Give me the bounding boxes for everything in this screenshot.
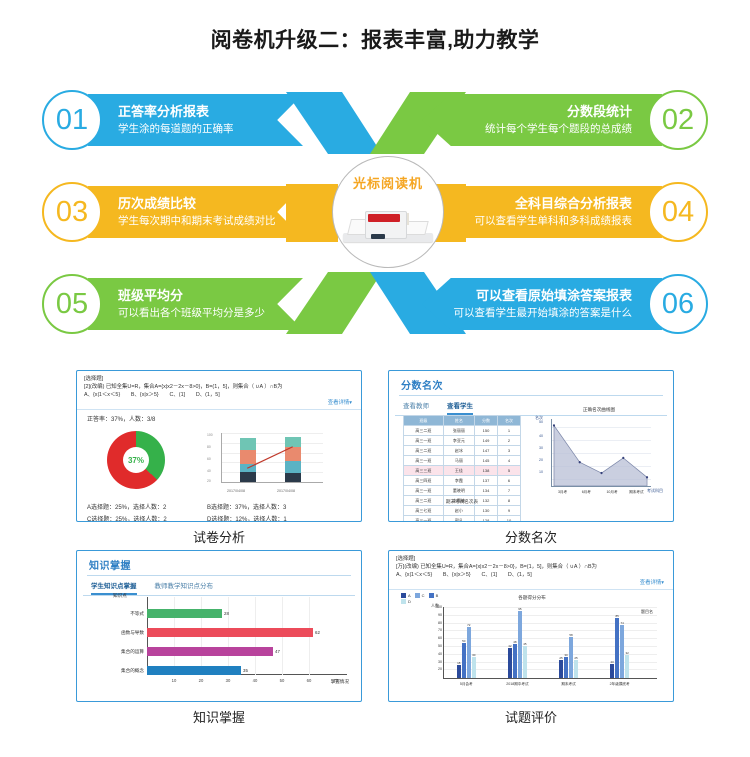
bar-label: 函数与导数 [121, 628, 144, 637]
y-tick: 10 [539, 470, 543, 474]
panel-question-eval: [选择题] [万](改编) 已知全集U=R，集合A={x|x2－2x－8>0}，… [388, 550, 674, 702]
table-row: 高三二班张丽丽1501 [404, 426, 521, 436]
correct-rate-text: 正答率：37%，人数：3/8 [77, 410, 361, 423]
question-block: [选择题] [万](改编) 已知全集U=R，集合A={x|x2－2x－8>0}，… [389, 551, 673, 590]
view-detail-link[interactable]: 查看详情▾ [84, 399, 354, 407]
ocr-scanner-machine-icon [341, 205, 435, 249]
feature-number-label: 02 [662, 104, 694, 137]
x-tick-1: 2017/04/08 [227, 489, 245, 493]
bar-label: 集合的概念 [121, 666, 144, 675]
y-tick: 20 [539, 458, 543, 462]
bar-group: 42 48 95 45 2018期中考试 [508, 607, 527, 678]
x-tick: 10月考 [606, 490, 617, 495]
screenshot-panels: [选择题] [2](改编) 已知全集U=R，集合A={x|x2－2x－8>0}，… [0, 362, 750, 742]
x-tick: 6月考 [582, 490, 591, 495]
x-tick: 50 [280, 678, 285, 683]
y-tick: 80 [432, 621, 442, 625]
stacked-plot-area [221, 433, 323, 483]
question-tag: [选择题] [84, 376, 354, 383]
bar-group: 20 85 74 32 2年级摸底考 [610, 607, 629, 678]
feature-subtitle: 学生涂的每道题的正确率 [118, 122, 287, 136]
y-tick: 40 [539, 434, 543, 438]
question-tag: [选择题] [396, 556, 666, 563]
table-row: 高三一班马丽1454 [404, 456, 521, 466]
y-tick: 20 [432, 667, 442, 671]
correct-rate-donut-chart: 37% [107, 431, 165, 489]
feature-number-05: 05 [42, 274, 102, 334]
feature-title: 全科目综合分析报表 [444, 196, 632, 212]
table-row: 高三二班赵冰1473 [404, 446, 521, 456]
feature-number-label: 03 [56, 196, 88, 229]
table-row: 高三一班董晓明1347 [404, 486, 521, 496]
x-tick: 期末考试 [629, 490, 643, 495]
x-tick: 3月考 [558, 490, 567, 495]
caption-paper-analysis: 试卷分析 [76, 527, 362, 546]
bar-value: 28 [224, 609, 229, 618]
infographic-page: 阅卷机升级二：报表丰富,助力教学 01 正答率分析报表 学生涂的每道题的正确率 … [0, 0, 750, 757]
bar-row: 集合的运算 47 [147, 647, 273, 656]
chart-xlabel: 考试科目 [647, 488, 663, 493]
bar-row: 函数与导数 62 [147, 628, 313, 637]
table-row: 高三四班李霞1376 [404, 476, 521, 486]
x-tick-2: 2017/04/08 [277, 489, 295, 493]
y-tick: 60 [432, 636, 442, 640]
col-class: 班级 [404, 416, 444, 426]
feature-number-label: 05 [56, 288, 88, 321]
center-label: 光标阅读机 [333, 173, 443, 192]
bar-row: 不等式 28 [147, 609, 222, 618]
question-line-1: [2](改编) 已知全集U=R，集合A={x|x2－2x－8>0}，B=(1，5… [84, 383, 354, 391]
x-tick: 30 [226, 678, 231, 683]
feature-number-label: 06 [662, 288, 694, 321]
feature-title: 正答率分析报表 [118, 104, 287, 120]
option-stat-a: A选择题：25%，选择人数：2 [87, 503, 207, 513]
score-table-wrap: 班级 姓名 分数 名次 高三二班张丽丽1501 高三一班李亚元1492 高三二班… [403, 415, 521, 522]
y-tick: 70 [432, 628, 442, 632]
feature-number-06: 06 [648, 274, 708, 334]
question-line-2: A、{x|1＜x＜5} B、{x|x＞5} C、(1] D、(1，5] [84, 391, 354, 399]
caption-knowledge: 知识掌握 [76, 707, 362, 726]
table-row: 高三一班李亚元1492 [404, 436, 521, 446]
score-table-caption: 期末考试名次表 [403, 499, 521, 505]
question-line-1: [万](改编) 已知全集U=R，集合A={x|x2－2x－8>0}，B=(1，5… [396, 563, 666, 571]
chart-ylabel: 知识点 [113, 593, 127, 599]
y-tick: 40 [432, 652, 442, 656]
x-tick: 20 [199, 678, 204, 683]
tab-view-teacher[interactable]: 查看教师 [403, 400, 429, 415]
feature-number-03: 03 [42, 182, 102, 242]
y-tick: 100 [432, 605, 442, 609]
bar-value: 35 [243, 666, 248, 675]
x-tick: 40 [253, 678, 258, 683]
table-header-row: 班级 姓名 分数 名次 [404, 416, 521, 426]
table-row-highlighted: 高三三班王佳1385 [404, 466, 521, 476]
bar-row: 集合的概念 35 [147, 666, 241, 675]
analysis-charts: 37% [77, 423, 361, 501]
caption-question-eval: 试题评价 [388, 707, 674, 726]
bar-group: 25 30 58 25 期末考试 [559, 607, 578, 678]
y-tick: 50 [432, 644, 442, 648]
feature-banner-02[interactable]: 分数段统计 统计每个学生每个题段的总成绩 [422, 94, 662, 146]
feature-number-01: 01 [42, 90, 102, 150]
feature-number-02: 02 [648, 90, 708, 150]
plot-area: 50 40 30 20 10 3月考 6月考 10月考 期末考试 [551, 419, 651, 487]
center-circle: 光标阅读机 [332, 156, 444, 268]
tab-view-student[interactable]: 查看学生 [447, 400, 473, 415]
feature-title: 班级平均分 [118, 288, 287, 304]
question-eval-bar-chart: A C B D 各题得分分布 人数 题目名 [397, 593, 667, 693]
donut-center-label: 37% [123, 447, 149, 473]
plot-area: 100 90 80 70 60 50 40 30 20 18 50 72 30 … [443, 607, 657, 679]
feature-banner-05[interactable]: 班级平均分 可以看出各个班级平均分是多少 [88, 278, 303, 330]
bar-value: 62 [315, 628, 320, 637]
stacked-bar-chart: 100 80 60 40 20 2017/04/08 2017/04/08 [207, 431, 327, 493]
bar-label: 集合的运算 [121, 647, 144, 656]
feature-banner-01[interactable]: 正答率分析报表 学生涂的每道题的正确率 [88, 94, 303, 146]
col-name: 姓名 [443, 416, 474, 426]
table-row: 高三一班郭凡12810 [404, 516, 521, 523]
chart-xlabel: 掌握情况 [331, 679, 349, 685]
y-tick: 90 [432, 613, 442, 617]
bar-value: 47 [275, 647, 280, 656]
col-score: 分数 [475, 416, 498, 426]
feature-subtitle: 可以查看学生单科和多科成绩报表 [444, 214, 632, 228]
feature-subtitle: 可以看出各个班级平均分是多少 [118, 306, 287, 320]
x-tick: 60 [307, 678, 312, 683]
x-tick: 2018期中考试 [506, 682, 528, 687]
feature-banner-04[interactable]: 全科目综合分析报表 可以查看学生单科和多科成绩报表 [422, 186, 662, 238]
option-stat-b: B选择题：37%，选择人数：3 [207, 503, 327, 513]
page-title: 阅卷机升级二：报表丰富,助力教学 [0, 24, 750, 54]
y-tick: 30 [539, 446, 543, 450]
x-tick: 2年级摸底考 [610, 682, 630, 687]
feature-number-label: 01 [56, 104, 88, 137]
score-table: 班级 姓名 分数 名次 高三二班张丽丽1501 高三一班李亚元1492 高三二班… [403, 415, 521, 522]
panel-header-knowledge: 知识掌握 [77, 551, 361, 575]
feature-subtitle: 学生每次期中和期末考试成绩对比 [118, 214, 287, 228]
col-rank: 名次 [497, 416, 520, 426]
question-block: [选择题] [2](改编) 已知全集U=R，集合A={x|x2－2x－8>0}，… [77, 371, 361, 410]
x-tick: 期末考试 [561, 682, 575, 687]
feature-banner-06[interactable]: 可以查看原始填涂答案报表 可以查看学生最开始填涂的答案是什么 [422, 278, 662, 330]
feature-subtitle: 可以查看学生最开始填涂的答案是什么 [444, 306, 632, 320]
option-stats-row-2: C选择题：25%，选择人数：2D选择题：12%，选择人数：1 [77, 513, 361, 522]
x-tick: 5月会考 [460, 682, 473, 687]
feature-banner-03[interactable]: 历次成绩比较 学生每次期中和期末考试成绩对比 [88, 186, 303, 238]
trend-line [222, 433, 323, 482]
question-line-2: A、{x|1＜x＜5} B、{x|x＞5} C、(1] D、(1，5] [396, 571, 666, 579]
chart-title: 各题得分分布 [397, 595, 667, 601]
feature-title: 分数段统计 [444, 104, 632, 120]
feature-title: 历次成绩比较 [118, 196, 287, 212]
panel-score-rank: 分数名次 查看教师 查看学生 班级 姓名 分数 名次 [388, 370, 674, 522]
feature-number-label: 04 [662, 196, 694, 229]
table-row: 高三七班赵小1309 [404, 506, 521, 516]
panel-paper-analysis: [选择题] [2](改编) 已知全集U=R，集合A={x|x2－2x－8>0}，… [76, 370, 362, 522]
bar-label: 不等式 [130, 609, 144, 618]
feature-number-04: 04 [648, 182, 708, 242]
option-stats-row-1: A选择题：25%，选择人数：2B选择题：37%，选择人数：3 [77, 501, 361, 513]
feature-diagram: 01 正答率分析报表 学生涂的每道题的正确率 02 分数段统计 统计每个学生每个… [0, 78, 750, 348]
x-tick: 10 [172, 678, 177, 683]
panel-header-score-rank: 分数名次 [389, 371, 673, 395]
option-stat-d: D选择题：12%，选择人数：1 [207, 515, 327, 522]
bar-group: 18 50 72 30 5月会考 [457, 607, 476, 678]
y-tick: 50 [539, 420, 543, 424]
knowledge-bar-chart: 知识点 不等式 28 函数与导数 62 [95, 593, 351, 687]
feature-title: 可以查看原始填涂答案报表 [444, 288, 632, 304]
view-detail-link[interactable]: 查看详情▾ [396, 579, 666, 587]
option-stat-c: C选择题：25%，选择人数：2 [87, 515, 207, 522]
rank-area-chart: 正确名次曲线图 名次 [535, 415, 663, 499]
panel-knowledge: 知识掌握 学生知识点掌握 教师教学知识点分布 知识点 不等式 [76, 550, 362, 702]
y-tick: 30 [432, 660, 442, 664]
caption-score-rank: 分数名次 [388, 527, 674, 546]
feature-subtitle: 统计每个学生每个题段的总成绩 [444, 122, 632, 136]
chart-title: 正确名次曲线图 [535, 407, 663, 413]
